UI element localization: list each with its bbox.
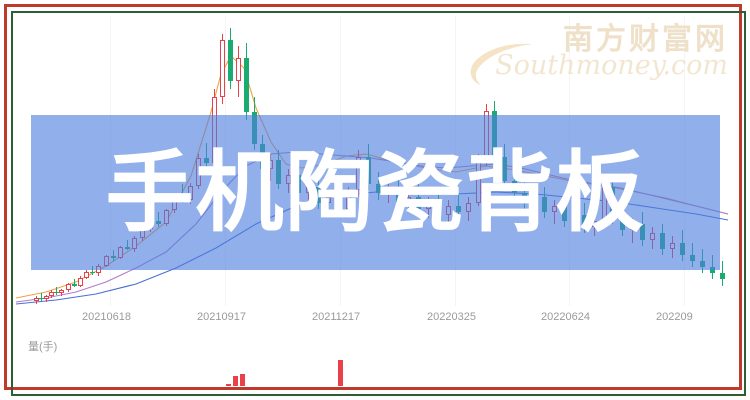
candle-body — [220, 40, 225, 97]
screenshot-root: 2021061820210917202112172022032520220624… — [0, 0, 750, 400]
x-axis-tick-label: 20211217 — [312, 311, 360, 323]
x-axis-tick-label: 202209 — [656, 311, 693, 323]
candle-body — [72, 284, 77, 286]
page-title: 手机陶瓷背板 — [31, 115, 720, 270]
x-axis: 2021061820210917202112172022032520220624… — [16, 309, 742, 331]
candle-body — [84, 272, 89, 278]
candle-body — [236, 58, 241, 81]
volume-panel — [16, 334, 742, 386]
candle-body — [720, 273, 725, 279]
candle-body — [78, 278, 83, 286]
x-axis-tick-label: 20220325 — [427, 311, 476, 323]
volume-bar — [233, 376, 238, 386]
volume-bar — [338, 360, 343, 386]
volume-bar — [226, 384, 231, 386]
candle-body — [44, 296, 49, 299]
candle-body — [66, 284, 71, 290]
candle-body — [90, 272, 95, 274]
x-axis-tick-label: 20210618 — [82, 311, 131, 323]
candle-body — [244, 58, 249, 112]
x-axis-tick-label: 20220624 — [541, 311, 590, 323]
page-title-text: 手机陶瓷背板 — [105, 149, 645, 237]
candle-body — [228, 40, 233, 81]
x-axis-tick-label: 20210917 — [197, 311, 246, 323]
volume-bar — [240, 374, 245, 386]
candle-body — [59, 290, 64, 293]
